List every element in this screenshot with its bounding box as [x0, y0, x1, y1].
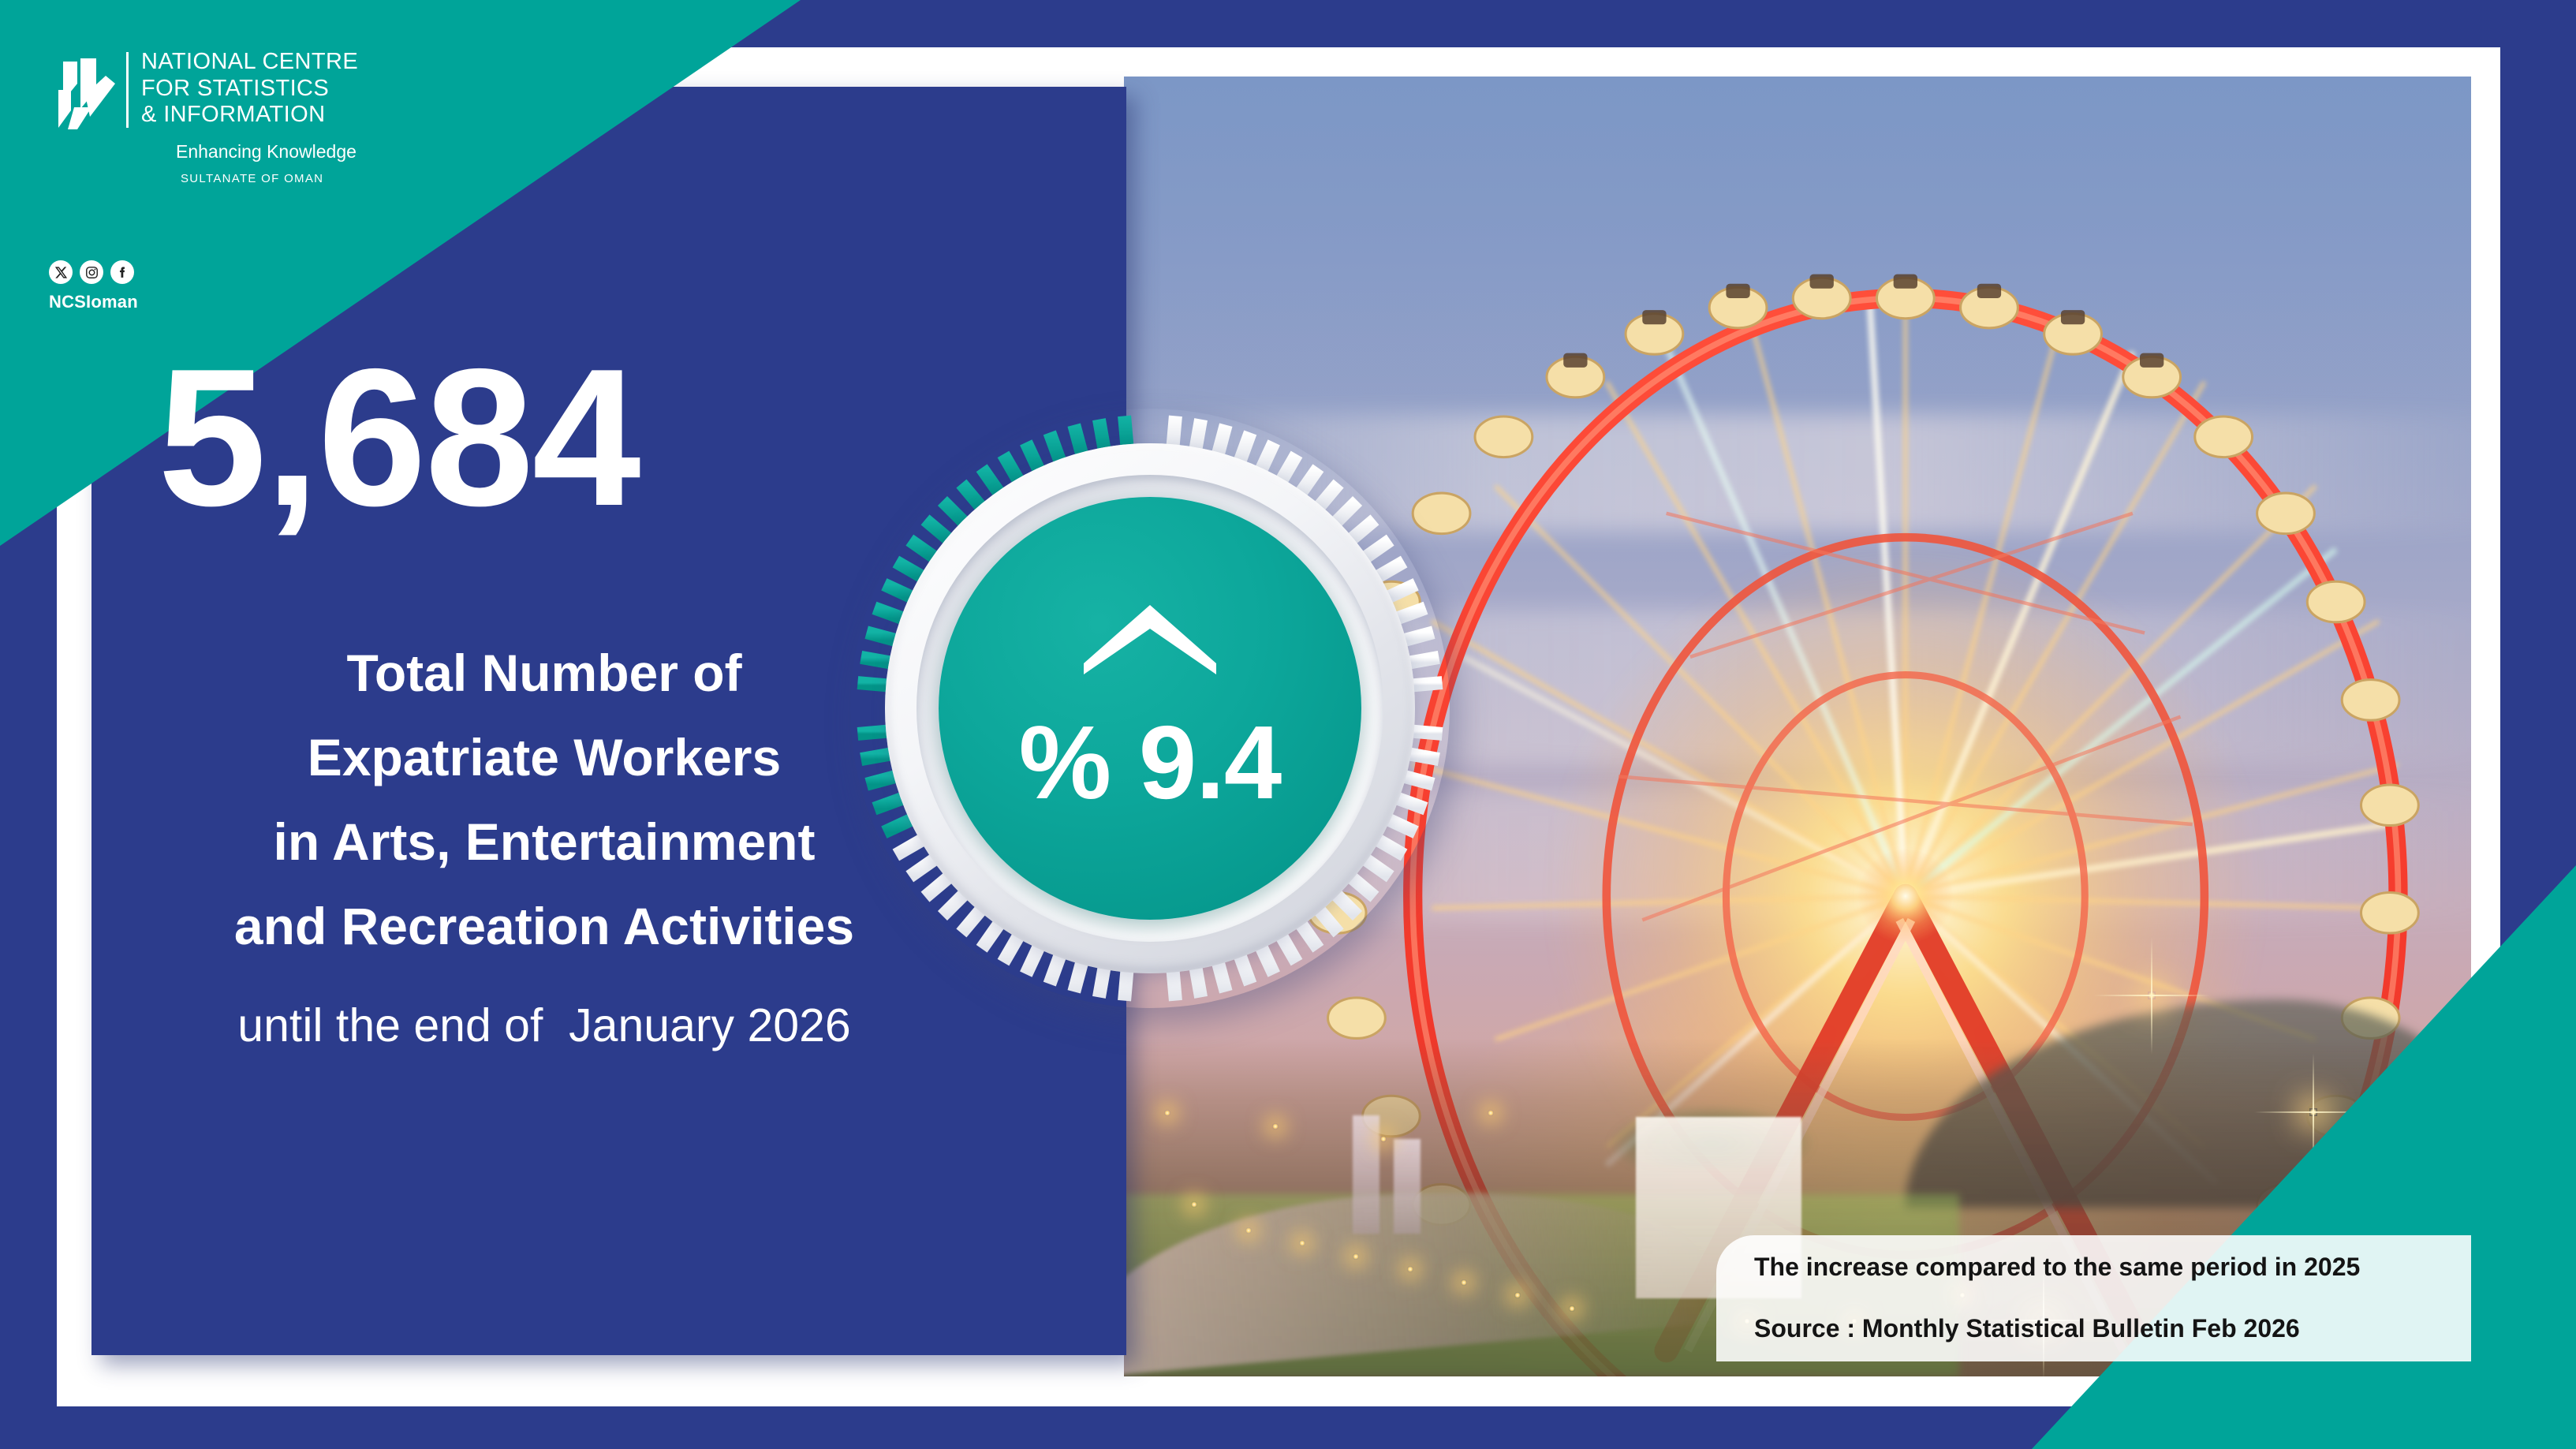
street-light [1245, 1227, 1252, 1234]
logo-divider [126, 52, 129, 128]
street-light [1461, 1279, 1467, 1286]
logo-line-2: FOR STATISTICS [141, 76, 358, 103]
x-twitter-icon[interactable] [49, 260, 73, 284]
caption-line-1: The increase compared to the same period… [1754, 1254, 2471, 1279]
gauge-value: % 9.4 [1019, 711, 1282, 815]
ncsi-logo: NATIONAL CENTRE FOR STATISTICS & INFORMA… [46, 49, 358, 185]
city-tower [1353, 1115, 1379, 1234]
street-light [1407, 1266, 1413, 1272]
caption-box: The increase compared to the same period… [1716, 1235, 2471, 1361]
gauge-face: % 9.4 [939, 497, 1361, 920]
street-light [1380, 1136, 1387, 1142]
facebook-icon[interactable] [110, 260, 134, 284]
city-tower [1394, 1139, 1421, 1234]
social-icon-row [49, 260, 138, 284]
logo-tagline: Enhancing Knowledge [176, 141, 358, 162]
stat-number: 5,684 [158, 339, 946, 535]
social-block: NCSIoman [49, 260, 138, 312]
street-light [1272, 1123, 1279, 1130]
instagram-icon[interactable] [80, 260, 103, 284]
logo-line-1: NATIONAL CENTRE [141, 49, 358, 76]
light-flare [2148, 992, 2156, 999]
light-flare [2309, 1108, 2317, 1116]
logo-country: SULTANATE OF OMAN [181, 172, 358, 185]
infographic-canvas: NATIONAL CENTRE FOR STATISTICS & INFORMA… [0, 0, 2576, 1449]
caption-line-2: Source : Monthly Statistical Bulletin Fe… [1754, 1316, 2471, 1341]
chevron-up-icon [1082, 602, 1218, 676]
street-light [1569, 1305, 1575, 1312]
percentage-gauge: % 9.4 [850, 409, 1450, 1008]
ncsi-sail-logo-icon [46, 49, 121, 137]
social-handle: NCSIoman [49, 292, 138, 312]
logo-line-3: & INFORMATION [141, 102, 358, 129]
